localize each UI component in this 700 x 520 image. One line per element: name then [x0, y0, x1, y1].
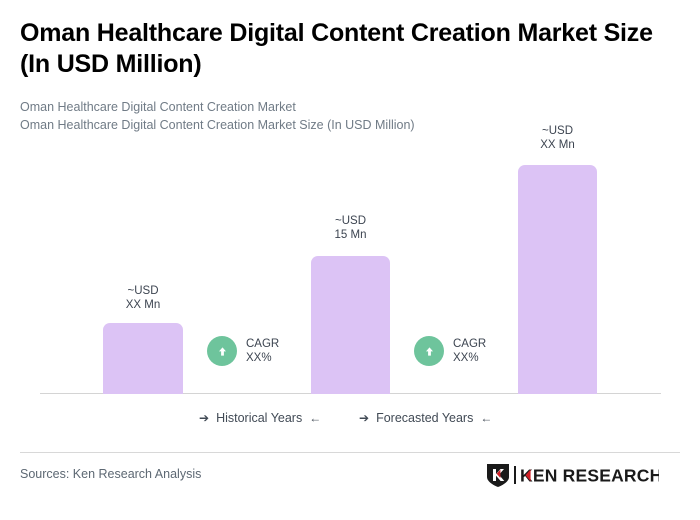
footer-divider — [20, 452, 680, 453]
period-label-historical: ➔ Historical Years ← — [199, 410, 321, 427]
arrow-right-icon: ➔ — [199, 410, 209, 427]
svg-text:KEN RESEARCH: KEN RESEARCH — [520, 466, 659, 486]
period-text-historical: Historical Years — [216, 410, 302, 427]
arrow-up-icon — [207, 336, 237, 366]
cagr-label-2: CAGR XX% — [453, 337, 486, 365]
arrow-left-icon: ← — [480, 410, 492, 427]
sources-text: Sources: Ken Research Analysis — [20, 466, 201, 483]
cagr-badge-2: CAGR XX% — [414, 336, 486, 366]
arrow-left-icon: ← — [309, 410, 321, 427]
plot-area: ~USD XX Mn ~USD 15 Mn ~USD XX Mn CAGR XX… — [0, 0, 700, 440]
bar-value-label-1: ~USD XX Mn — [103, 284, 183, 312]
bar-forecast — [518, 165, 597, 394]
cagr-label-1: CAGR XX% — [246, 337, 279, 365]
arrow-up-icon — [414, 336, 444, 366]
bar-mid — [311, 256, 390, 394]
bar-value-label-3: ~USD XX Mn — [518, 124, 597, 152]
period-label-forecasted: ➔ Forecasted Years ← — [359, 410, 492, 427]
chart-page: Oman Healthcare Digital Content Creation… — [0, 0, 700, 520]
arrow-right-icon: ➔ — [359, 410, 369, 427]
bar-value-label-2: ~USD 15 Mn — [311, 214, 390, 242]
period-text-forecasted: Forecasted Years — [376, 410, 473, 427]
bar-historical — [103, 323, 183, 394]
cagr-badge-1: CAGR XX% — [207, 336, 279, 366]
ken-research-logo: KEN RESEARCH — [484, 462, 659, 488]
